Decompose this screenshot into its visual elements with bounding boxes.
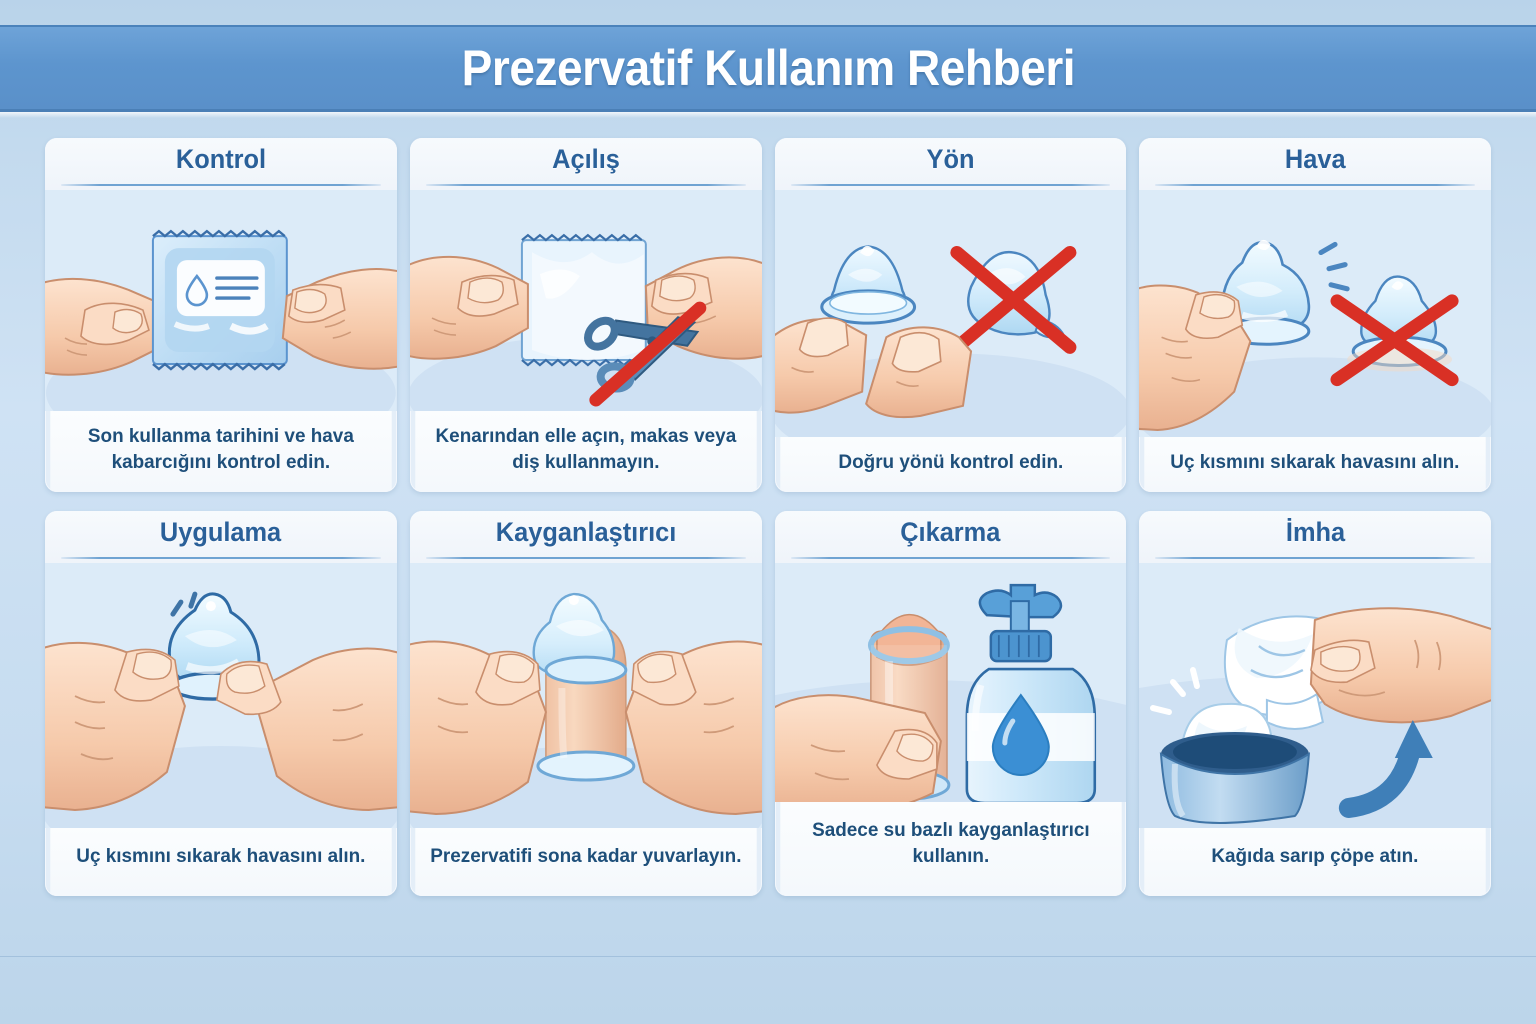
illustration-acilis — [410, 190, 762, 411]
card-header: Hava — [1139, 138, 1491, 190]
trash-bin-icon — [1161, 732, 1309, 823]
card-header: Yön — [775, 138, 1127, 190]
condom-packet-icon — [153, 231, 287, 369]
title-divider — [426, 184, 746, 186]
step-card-cikarma[interactable]: Çıkarma — [775, 511, 1127, 896]
orientation-check-illustration — [775, 190, 1127, 437]
step-card-kontrol[interactable]: Kontrol — [45, 138, 397, 492]
illustration-kontrol — [45, 190, 397, 411]
hand-icon — [1311, 608, 1491, 722]
banner-highlight — [0, 112, 1536, 118]
title-divider — [1155, 557, 1475, 559]
step-card-kayganlastirici[interactable]: Kayganlaştırıcı — [410, 511, 762, 896]
pinch-tip-illustration — [1139, 190, 1491, 437]
card-title: Hava — [1285, 144, 1346, 175]
step-card-acilis[interactable]: Açılış — [410, 138, 762, 492]
card-header: Uygulama — [45, 511, 397, 563]
card-caption: Kağıda sarıp çöpe atın. — [1145, 828, 1486, 896]
tearing-wrapper-illustration — [410, 190, 762, 411]
illustration-hava — [1139, 190, 1491, 437]
disposal-illustration — [1139, 563, 1491, 828]
card-title: Çıkarma — [900, 517, 1000, 548]
condom-packet-illustration — [45, 190, 397, 411]
hand-icon — [775, 695, 941, 802]
title-divider — [1155, 184, 1475, 186]
card-header: Kayganlaştırıcı — [410, 511, 762, 563]
steps-grid: Kontrol — [45, 138, 1491, 896]
step-card-uygulama[interactable]: Uygulama — [45, 511, 397, 896]
card-title: Uygulama — [160, 517, 281, 548]
illustration-imha — [1139, 563, 1491, 828]
card-caption: Son kullanma tarihini ve hava kabarcığın… — [50, 411, 391, 492]
card-header: Kontrol — [45, 138, 397, 190]
step-card-imha[interactable]: İmha — [1139, 511, 1491, 896]
step-card-hava[interactable]: Hava — [1139, 138, 1491, 492]
condom-packet-icon — [522, 235, 646, 365]
card-header: İmha — [1139, 511, 1491, 563]
card-caption: Kenarından elle açın, makas veya diş kul… — [415, 411, 756, 492]
illustration-yon — [775, 190, 1127, 437]
card-title: İmha — [1286, 517, 1345, 548]
card-title: Açılış — [552, 144, 620, 175]
illustration-cikarma — [775, 563, 1127, 802]
card-caption: Prezervatifi sona kadar yuvarlayın. — [415, 828, 756, 896]
title-divider — [791, 184, 1111, 186]
card-caption: Sadece su bazlı kayganlaştırıcı kullanın… — [780, 802, 1121, 896]
card-caption: Uç kısmını sıkarak havasını alın. — [1145, 437, 1486, 492]
illustration-uygulama — [45, 563, 397, 828]
rolling-condom-illustration — [410, 563, 762, 828]
card-caption: Doğru yönü kontrol edin. — [780, 437, 1121, 492]
title-divider — [61, 184, 381, 186]
step-card-yon[interactable]: Yön — [775, 138, 1127, 492]
title-divider — [61, 557, 381, 559]
infographic-page: Prezervatif Kullanım Rehberi Kontrol — [0, 0, 1536, 1024]
lubricant-illustration — [775, 563, 1127, 802]
title-divider — [791, 557, 1111, 559]
card-caption: Uç kısmını sıkarak havasını alın. — [50, 828, 391, 896]
two-hands-pinching-illustration — [45, 563, 397, 828]
card-title: Kayganlaştırıcı — [495, 517, 676, 548]
title-divider — [426, 557, 746, 559]
card-header: Açılış — [410, 138, 762, 190]
header-banner: Prezervatif Kullanım Rehberi — [0, 25, 1536, 112]
card-title: Kontrol — [176, 144, 266, 175]
illustration-kayganlastirici — [410, 563, 762, 828]
page-title: Prezervatif Kullanım Rehberi — [461, 39, 1074, 97]
footer-divider — [0, 956, 1536, 957]
card-title: Yön — [926, 144, 974, 175]
card-header: Çıkarma — [775, 511, 1127, 563]
